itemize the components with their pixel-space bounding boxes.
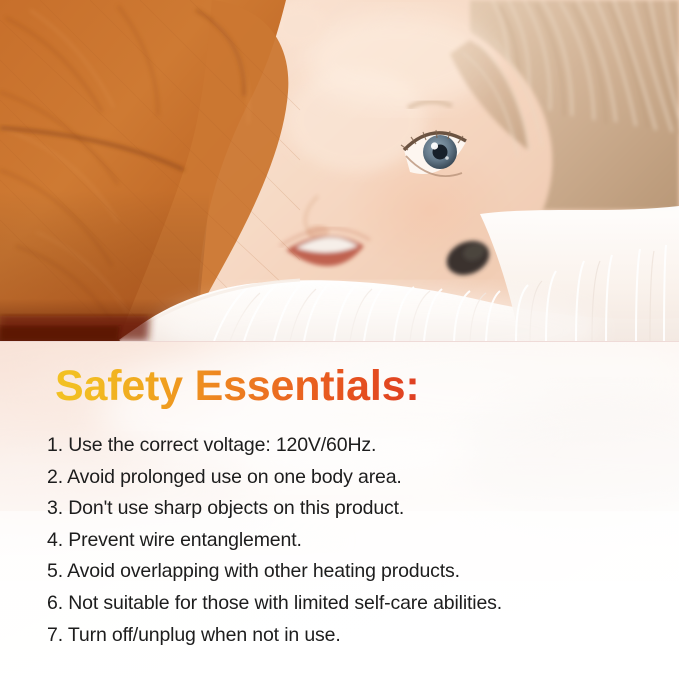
list-item: 5. Avoid overlapping with other heating … — [47, 556, 647, 588]
photo-panel-divider — [0, 341, 679, 342]
list-item: 1. Use the correct voltage: 120V/60Hz. — [47, 430, 647, 462]
safety-list: 1. Use the correct voltage: 120V/60Hz. 2… — [47, 430, 647, 651]
product-lifestyle-photo — [0, 0, 679, 341]
panel-content: Safety Essentials: 1. Use the correct vo… — [0, 341, 679, 679]
list-item-number: 6. — [47, 592, 63, 614]
list-item-number: 7. — [47, 624, 63, 646]
list-item-text: Prevent wire entanglement. — [68, 529, 301, 551]
safety-essentials-card: Safety Essentials: 1. Use the correct vo… — [0, 0, 679, 679]
list-item-text: Don't use sharp objects on this product. — [68, 497, 404, 519]
list-item-text: Turn off/unplug when not in use. — [68, 624, 341, 646]
list-item: 3. Don't use sharp objects on this produ… — [47, 493, 647, 525]
list-item-text: Avoid prolonged use on one body area. — [67, 466, 402, 488]
list-item: 2. Avoid prolonged use on one body area. — [47, 462, 647, 494]
list-item-number: 3. — [47, 497, 63, 519]
page-title: Safety Essentials: — [55, 361, 419, 411]
list-item: 6. Not suitable for those with limited s… — [47, 588, 647, 620]
list-item-text: Not suitable for those with limited self… — [68, 592, 502, 614]
list-item-text: Avoid overlapping with other heating pro… — [67, 560, 460, 582]
list-item-number: 4. — [47, 529, 63, 551]
list-item-number: 5. — [47, 560, 63, 582]
photo-artwork — [0, 0, 679, 341]
list-item: 4. Prevent wire entanglement. — [47, 525, 647, 557]
list-item-number: 2. — [47, 466, 63, 488]
list-item-text: Use the correct voltage: 120V/60Hz. — [68, 434, 376, 456]
list-item: 7. Turn off/unplug when not in use. — [47, 620, 647, 652]
list-item-number: 1. — [47, 434, 63, 456]
safety-text-panel: Safety Essentials: 1. Use the correct vo… — [0, 341, 679, 679]
